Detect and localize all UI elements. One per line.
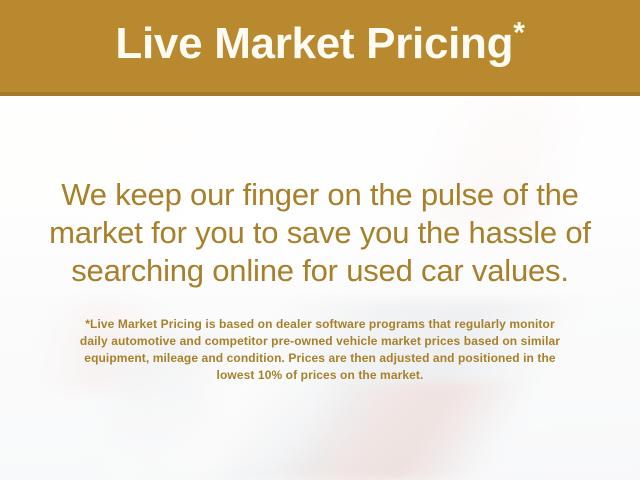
- header-bottom-rule: [0, 92, 640, 96]
- disclaimer-line-2: daily automotive and competitor pre-owne…: [30, 333, 610, 350]
- header-band: Live Market Pricing*: [0, 0, 640, 92]
- headline-line-3: searching online for used car values.: [0, 252, 640, 290]
- background-red-car-band-lower: [150, 382, 600, 480]
- headline-line-1: We keep our finger on the pulse of the: [0, 176, 640, 214]
- page-title-footnote-marker: *: [513, 16, 524, 49]
- page-title-text: Live Market Pricing: [115, 19, 513, 68]
- disclaimer-line-4: lowest 10% of prices on the market.: [30, 367, 610, 384]
- live-market-pricing-slide: Live Market Pricing* We keep our finger …: [0, 0, 640, 480]
- disclaimer-line-1: *Live Market Pricing is based on dealer …: [30, 316, 610, 333]
- page-title: Live Market Pricing*: [115, 22, 524, 70]
- headline-line-2: market for you to save you the hassle of: [0, 214, 640, 252]
- disclaimer: *Live Market Pricing is based on dealer …: [30, 316, 610, 384]
- disclaimer-line-3: equipment, mileage and condition. Prices…: [30, 350, 610, 367]
- headline: We keep our finger on the pulse of the m…: [0, 176, 640, 290]
